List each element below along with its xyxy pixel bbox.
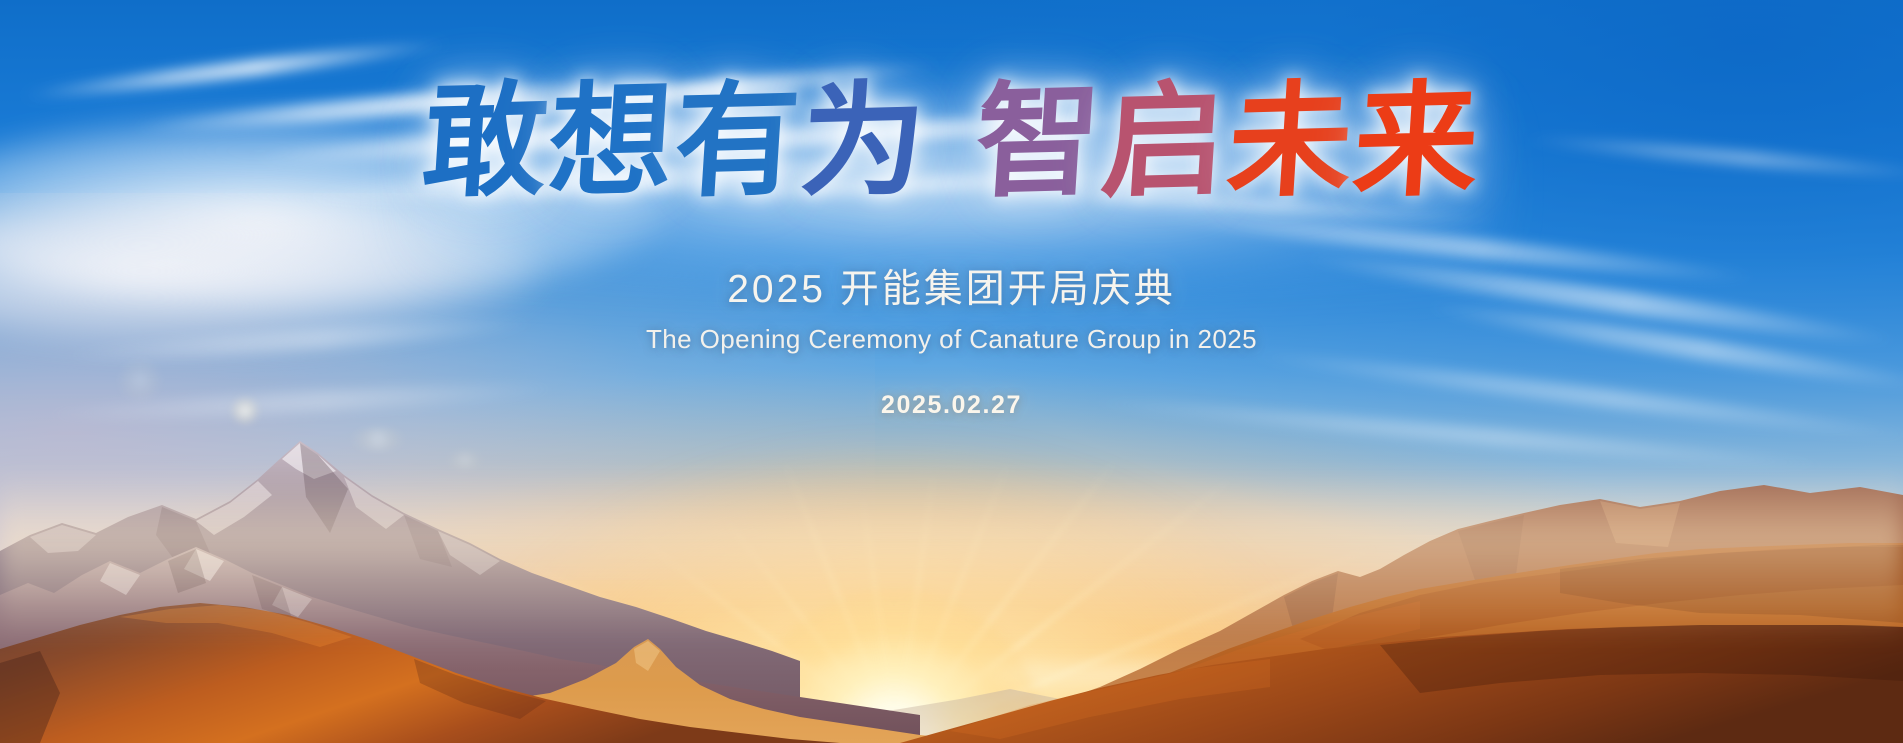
headline-char-8: 来 bbox=[1350, 78, 1484, 205]
subtitle-chinese: 2025 开能集团开局庆典 bbox=[0, 258, 1903, 314]
lens-flare bbox=[448, 452, 482, 468]
valley-haze bbox=[0, 470, 1903, 640]
headline-char-2: 想 bbox=[545, 78, 679, 205]
headline-char-3: 有 bbox=[671, 78, 805, 205]
lens-flare bbox=[352, 428, 404, 450]
headline-char-4: 为 bbox=[797, 78, 931, 205]
headline-char-6: 启 bbox=[1097, 78, 1231, 205]
subtitle-english: The Opening Ceremony of Canature Group i… bbox=[0, 324, 1903, 355]
headline-char-5: 智 bbox=[971, 78, 1105, 205]
headline-char-7: 未 bbox=[1224, 78, 1358, 205]
event-date: 2025.02.27 bbox=[0, 391, 1903, 420]
headline-char-1: 敢 bbox=[419, 78, 553, 205]
event-banner: 敢想有为智启未来 2025 开能集团开局庆典 The Opening Cerem… bbox=[0, 0, 1903, 743]
subtitle-block: 2025 开能集团开局庆典 The Opening Ceremony of Ca… bbox=[0, 258, 1903, 420]
headline: 敢想有为智启未来 bbox=[0, 80, 1903, 204]
